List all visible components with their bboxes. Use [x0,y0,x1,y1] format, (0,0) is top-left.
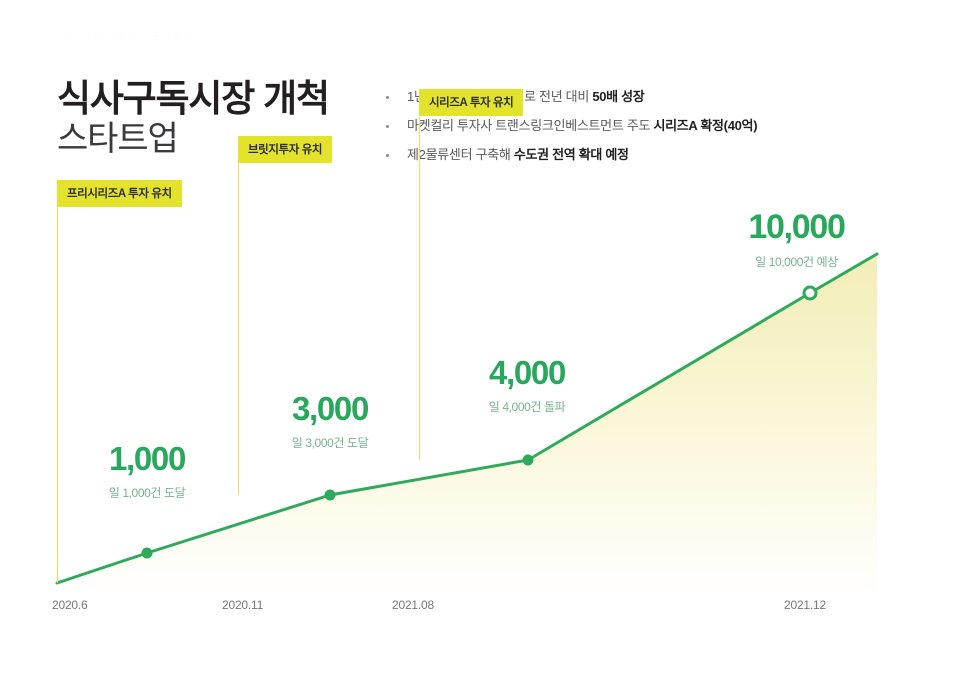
bullet-strong: 수도권 전역 확대 예정 [514,147,629,162]
bullet-dot-icon [386,125,389,128]
milestone-number-3: 4,000 [447,356,607,389]
milestone-value-2: 3,000 일 3,000건 도달 [250,392,410,451]
x-axis-tick-0: 2020.6 [52,598,88,612]
bullet-pre: 제2물류센터 구축해 [407,147,514,162]
slide-canvas: 기업 성장 스토리 인포그래픽 식사구독시장 개척 스타트업 1년간 3차례 투… [0,0,970,688]
bullet-dot-icon [386,154,389,157]
bullet-text: 마켓컬리 투자사 트랜스링크인베스트먼트 주도 시리즈A 확정(40억) [407,117,757,136]
list-item: 제2물류센터 구축해 수도권 전역 확대 예정 [386,146,757,165]
page-title: 식사구독시장 개척 스타트업 [57,78,387,161]
data-point-marker-4[interactable] [804,287,816,299]
milestone-caption-2: 일 3,000건 도달 [250,434,410,451]
milestone-value-3: 4,000 일 4,000건 돌파 [447,356,607,415]
milestone-badge-3[interactable]: 시리즈A 투자 유치 [419,89,523,116]
data-point-marker-1[interactable] [142,548,153,559]
milestone-badge-2[interactable]: 브릿지투자 유치 [238,136,332,163]
bullet-dot-icon [386,96,389,99]
milestone-number-2: 3,000 [250,392,410,425]
milestone-number-4: 10,000 [714,210,879,244]
data-point-marker-3[interactable] [523,455,534,466]
title-line-2: 스타트업 [57,119,387,160]
milestone-guide-3 [419,108,420,460]
bullet-strong: 시리즈A 확정(40억) [653,118,757,133]
watermark-text: 기업 성장 스토리 인포그래픽 [58,28,192,44]
milestone-number-1: 1,000 [67,442,227,475]
x-axis-tick-2: 2021.08 [392,598,434,612]
data-point-marker-2[interactable] [325,490,336,501]
x-axis-tick-3: 2021.12 [784,598,826,612]
growth-line-chart: 프리시리즈A 투자 유치 1,000 일 1,000건 도달 브릿지투자 유치 … [0,196,970,616]
milestone-caption-1: 일 1,000건 도달 [67,484,227,501]
milestone-badge-1[interactable]: 프리시리즈A 투자 유치 [57,180,182,207]
milestone-caption-4: 일 10,000건 예상 [714,253,879,270]
bullet-strong: 50배 성장 [592,89,644,104]
chart-area-fill [57,254,877,598]
milestone-guide-2 [238,155,239,495]
x-axis-tick-1: 2020.11 [222,598,263,612]
milestone-value-4: 10,000 일 10,000건 예상 [714,210,879,270]
milestone-value-1: 1,000 일 1,000건 도달 [67,442,227,501]
bullet-text: 제2물류센터 구축해 수도권 전역 확대 예정 [407,146,629,165]
list-item: 마켓컬리 투자사 트랜스링크인베스트먼트 주도 시리즈A 확정(40억) [386,117,757,136]
bullet-pre: 마켓컬리 투자사 트랜스링크인베스트먼트 주도 [407,118,653,133]
x-axis: 2020.6 2020.11 2021.08 2021.12 [0,598,970,622]
milestone-guide-1 [57,196,58,583]
title-line-1: 식사구독시장 개척 [57,78,387,119]
milestone-caption-3: 일 4,000건 돌파 [447,398,607,415]
